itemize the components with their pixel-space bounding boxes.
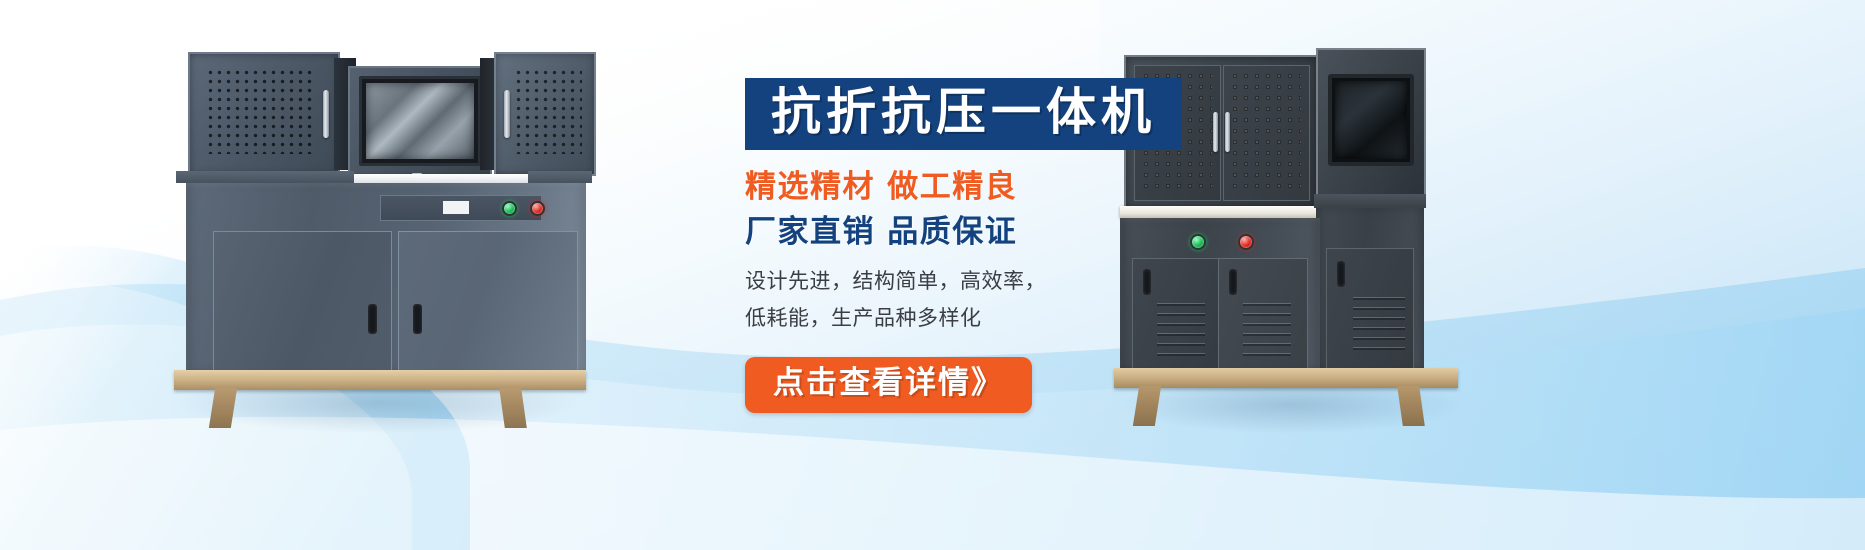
machine-left-body [186, 183, 586, 383]
machine-left-handle-upper-left[interactable] [323, 90, 329, 138]
machine-left-lower-door-right[interactable] [398, 231, 578, 379]
machine-left-control-drawer [380, 195, 542, 221]
promo-copy-block: 抗折抗压一体机 精选精材 做工精良 厂家直销 品质保证 设计先进，结构简单，高效… [745, 78, 1275, 413]
machine-left-perforation-left [208, 70, 312, 154]
machine-right-monitor-screen [1335, 81, 1407, 159]
machine-right-pedestal [1316, 208, 1424, 380]
headline-banner: 抗折抗压一体机 [745, 78, 1182, 150]
machine-right-worktop-right [1314, 194, 1426, 208]
machine-left-monitor-bezel [359, 76, 481, 166]
tagline-secondary: 厂家直销 品质保证 [745, 215, 1275, 251]
description-line-2: 低耗能，生产品种多样化 [745, 301, 1275, 336]
machine-right-monitor-bezel [1328, 74, 1414, 166]
machine-left-handle-lower-right[interactable] [413, 304, 422, 334]
machine-left-upper-cabinet-right [494, 52, 596, 176]
view-details-button-label: 点击查看详情》 [773, 365, 1004, 401]
machine-left-handle-upper-right[interactable] [504, 90, 510, 138]
machine-left-perforation-right [516, 70, 582, 154]
tagline-primary: 精选精材 做工精良 [745, 170, 1275, 206]
machine-right-monitor-housing [1316, 48, 1426, 198]
machine-left-indicator-green[interactable] [502, 201, 517, 216]
machine-left-top-ledge-right [528, 171, 592, 183]
product-promo-banner: 抗折抗压一体机 精选精材 做工精良 厂家直销 品质保证 设计先进，结构简单，高效… [0, 0, 1865, 550]
machine-left-top-ledge [176, 171, 354, 183]
machine-left-monitor-housing [348, 66, 492, 182]
headline-text: 抗折抗压一体机 [771, 87, 1156, 137]
description-line-1: 设计先进，结构简单，高效率， [745, 264, 1275, 299]
machine-left [168, 52, 588, 432]
view-details-button[interactable]: 点击查看详情》 [745, 357, 1032, 413]
machine-left-upper-cabinet-left [188, 52, 340, 176]
machine-left-indicator-red[interactable] [530, 201, 545, 216]
machine-left-handle-lower-left[interactable] [368, 304, 377, 334]
machine-right-vent-pedestal [1353, 297, 1405, 355]
machine-left-pallet-top [174, 370, 586, 390]
machine-right-handle-pedestal[interactable] [1337, 261, 1345, 287]
machine-left-lower-door-left[interactable] [213, 231, 392, 379]
machine-left-monitor-screen [366, 83, 474, 159]
machine-left-drawer-label [443, 201, 469, 214]
machine-right-pedestal-door[interactable] [1326, 248, 1414, 370]
